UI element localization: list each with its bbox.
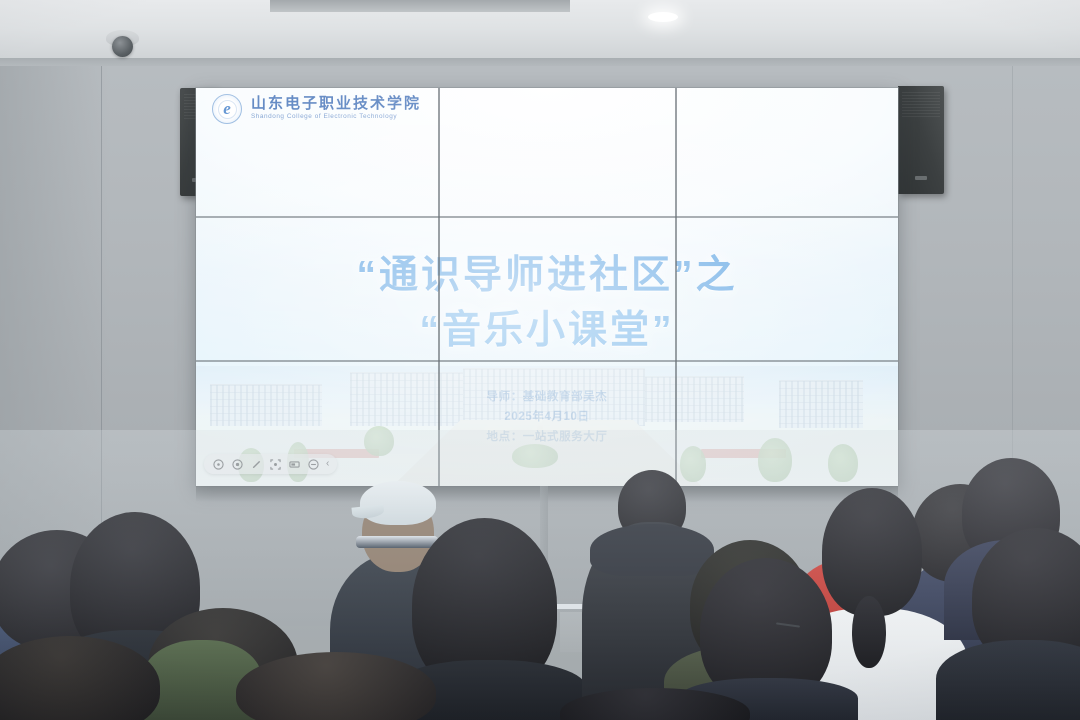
zoom-region-icon[interactable] (269, 458, 281, 470)
speaker-right (898, 86, 944, 194)
pen-annotation-icon[interactable] (250, 458, 262, 470)
photo-building (350, 372, 462, 426)
photo-tree (828, 444, 858, 482)
ceiling-beam (270, 0, 570, 12)
photo-building (210, 384, 322, 426)
security-camera-icon (112, 36, 133, 57)
video-wall-display[interactable]: e 山东电子职业技术学院 Shandong College of Electro… (196, 88, 898, 486)
speaker-grille (902, 92, 940, 118)
photo-building (779, 380, 863, 428)
white-cap (360, 481, 436, 525)
photo-building (645, 376, 743, 422)
presentation-toolbar[interactable]: ‹ (204, 454, 337, 474)
photo-tree (758, 438, 792, 482)
emblem-letter: e (213, 100, 241, 117)
photo-building (463, 368, 646, 426)
institution-name-cn: 山东电子职业技术学院 (251, 97, 421, 113)
next-slide-icon[interactable] (231, 458, 243, 470)
institution-name-en: Shandong College of Electronic Technolog… (251, 114, 421, 120)
presentation-slide: e 山东电子职业技术学院 Shandong College of Electro… (196, 88, 898, 486)
panel-seam-vertical (438, 88, 440, 486)
lecture-hall-photo: e 山东电子职业技术学院 Shandong College of Electro… (0, 0, 1080, 720)
collapse-toolbar-icon[interactable]: ‹ (326, 459, 329, 469)
panel-seam-horizontal (196, 216, 898, 218)
photo-tree (680, 446, 706, 482)
panel-seam-horizontal (196, 360, 898, 362)
photo-tree (364, 426, 394, 456)
previous-slide-icon[interactable] (212, 458, 224, 470)
speaker-badge (915, 176, 927, 180)
institution-logo: e 山东电子职业技术学院 Shandong College of Electro… (212, 94, 421, 124)
slide-title: “通识导师进社区”之 “音乐小课堂” (196, 248, 898, 359)
presenter-view-icon[interactable] (288, 458, 300, 470)
ceiling-light-icon (648, 12, 678, 22)
school-emblem-icon: e (212, 94, 242, 124)
more-options-icon[interactable] (307, 458, 319, 470)
panel-seam-vertical (675, 88, 677, 486)
slide-title-line1: “通识导师进社区”之 (356, 254, 737, 297)
photo-tree (512, 444, 558, 468)
slide-title-line2: “音乐小课堂” (196, 303, 898, 358)
